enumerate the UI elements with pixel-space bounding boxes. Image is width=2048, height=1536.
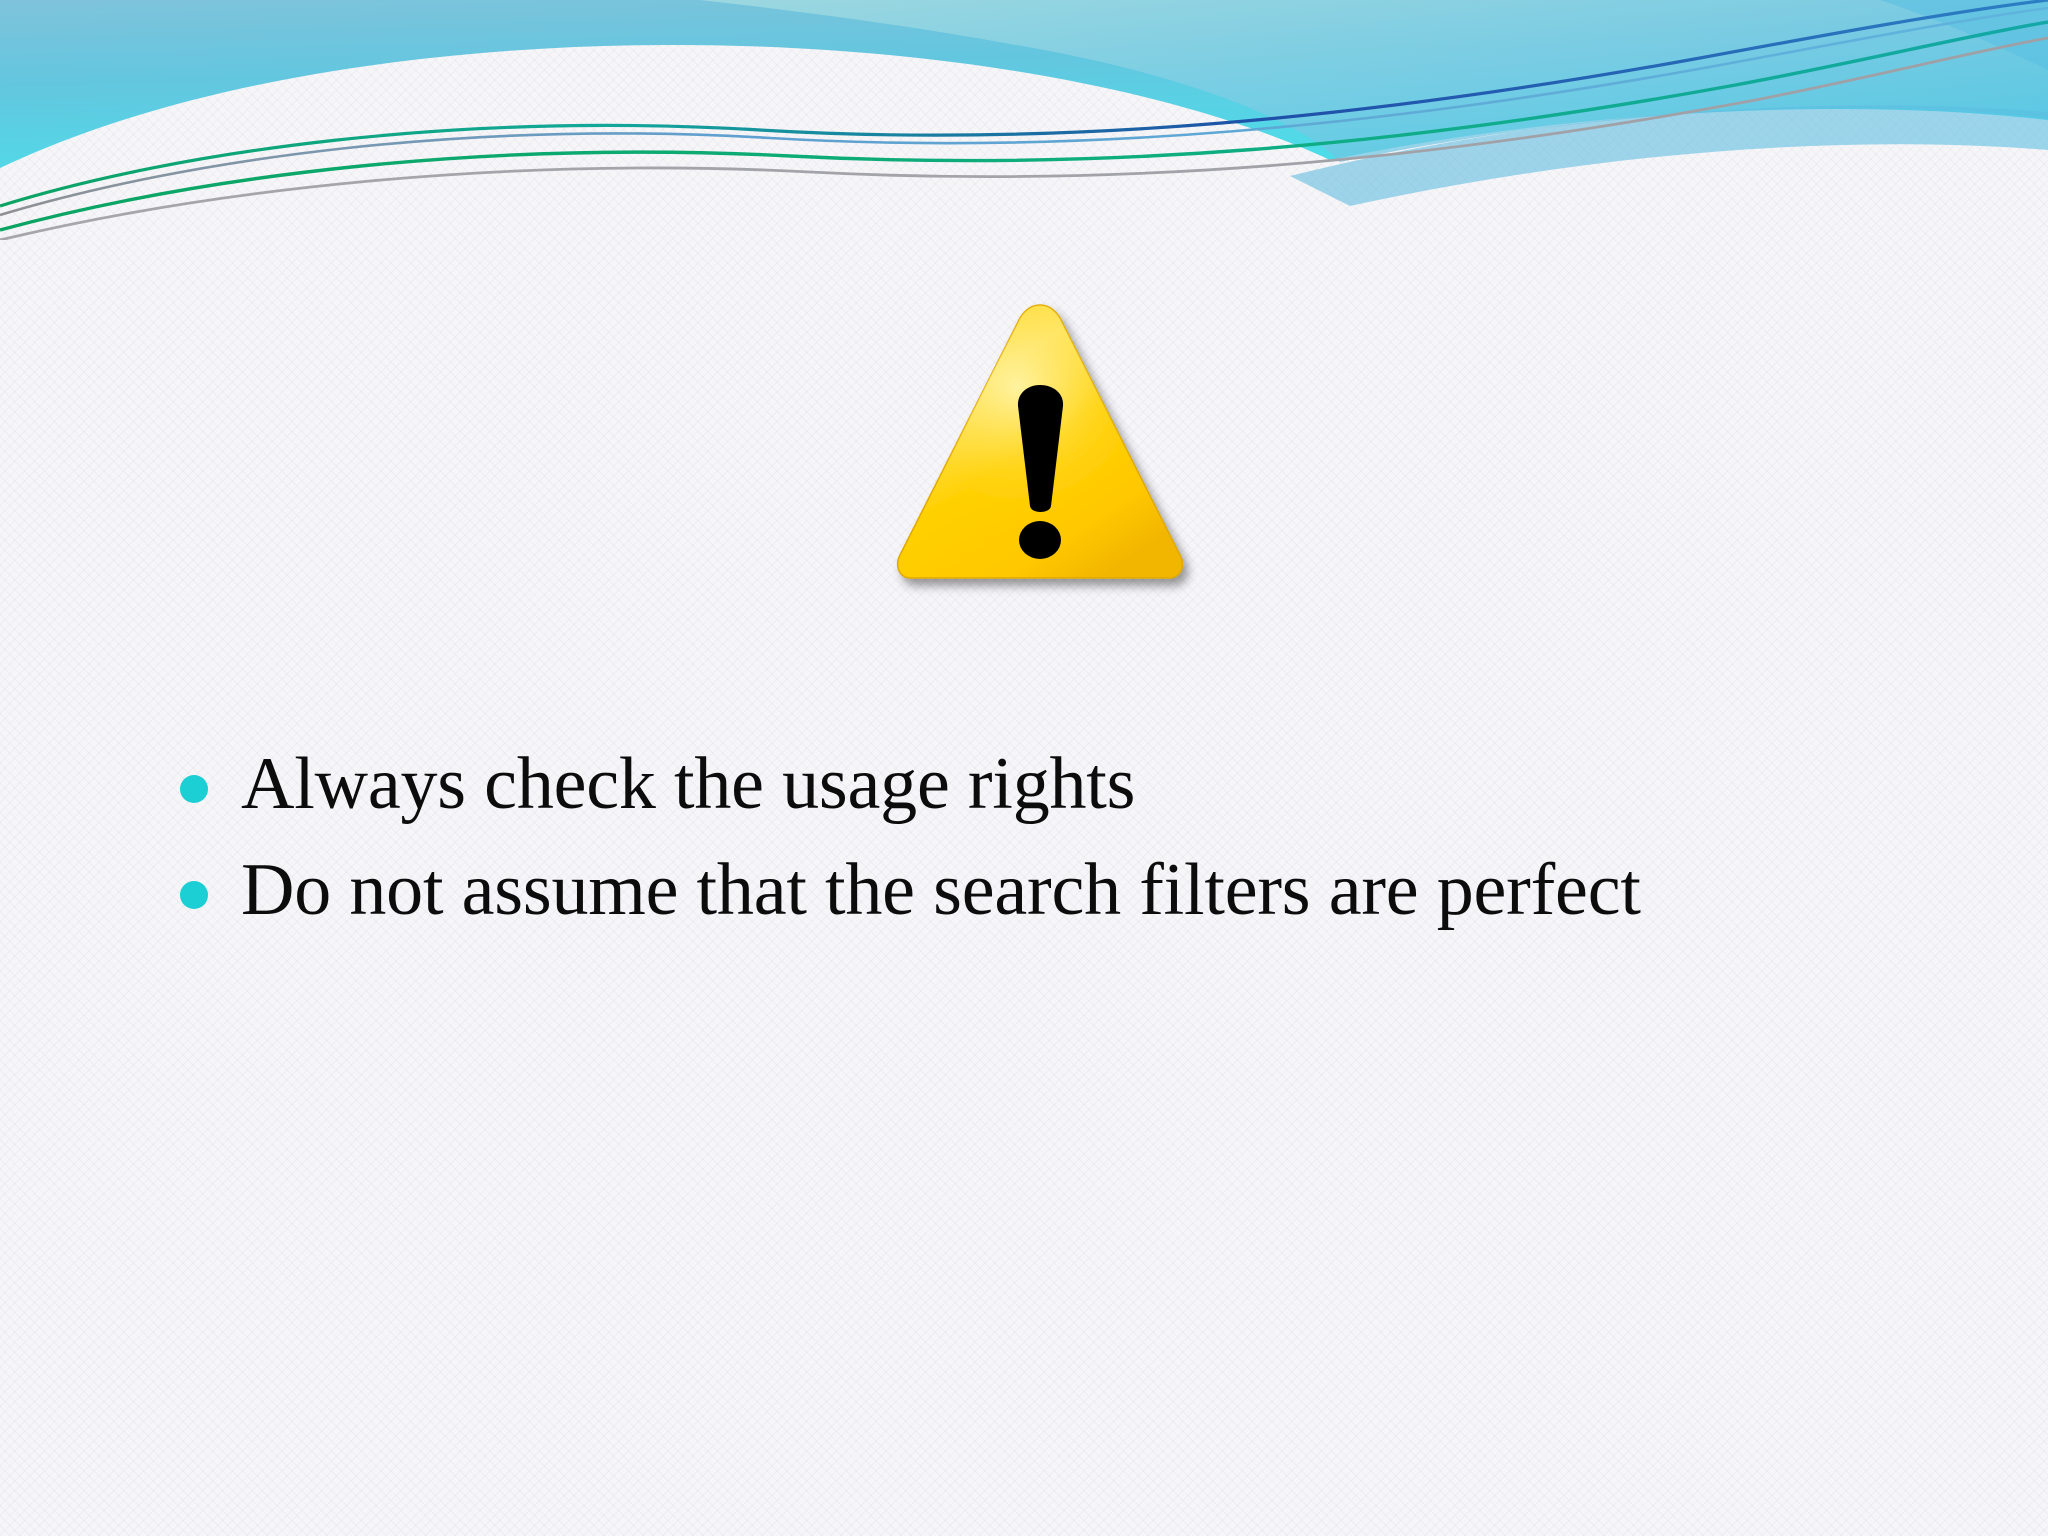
bullet-list: Always check the usage rights Do not ass… — [180, 745, 1970, 958]
warning-triangle-icon — [880, 290, 1210, 600]
bullet-circle-icon — [180, 775, 208, 803]
list-item: Do not assume that the search filters ar… — [180, 851, 1970, 929]
bullet-circle-icon — [180, 881, 208, 909]
bullet-text-2: Do not assume that the search filters ar… — [241, 851, 1970, 929]
list-item: Always check the usage rights — [180, 745, 1970, 823]
slide-canvas: Always check the usage rights Do not ass… — [0, 0, 2048, 1536]
bullet-text-1: Always check the usage rights — [241, 745, 1970, 823]
